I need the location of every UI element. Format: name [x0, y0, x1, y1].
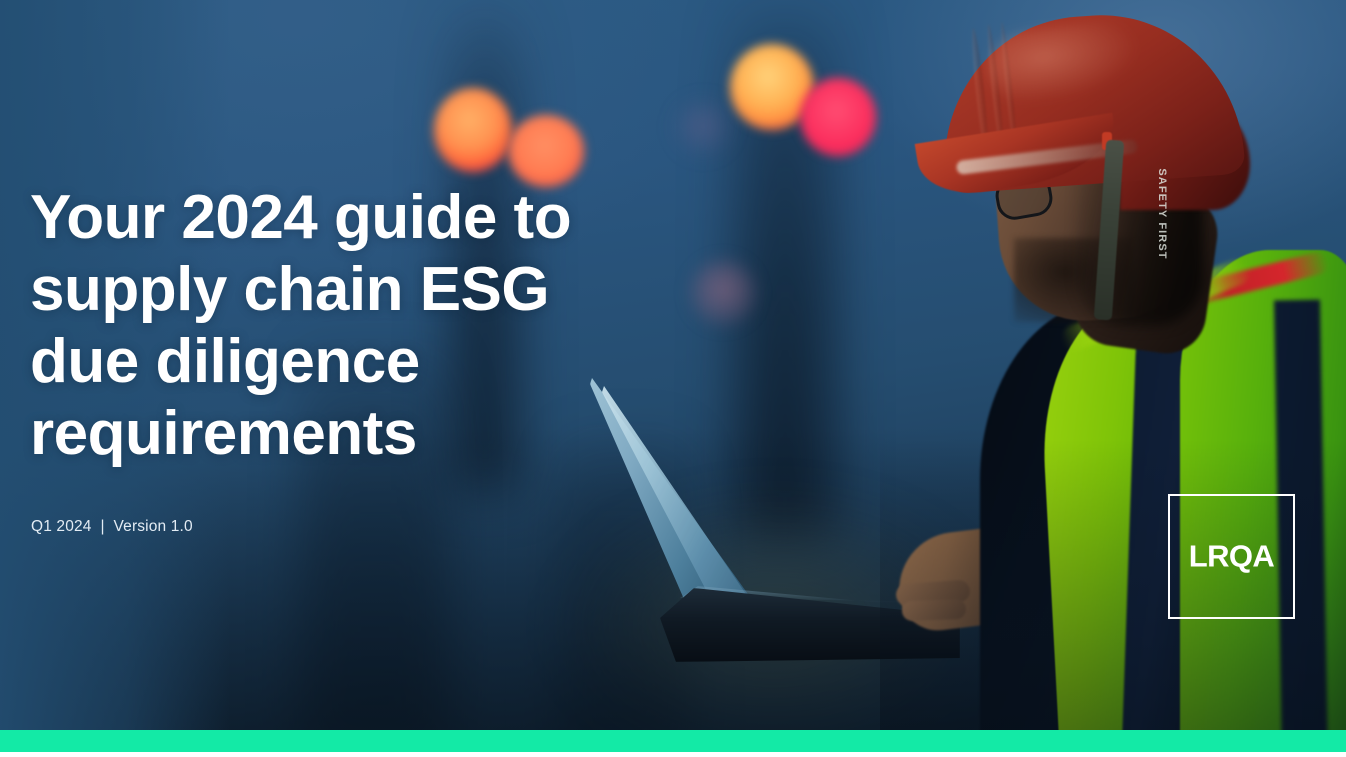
cover-page: SAFETY FIRST Your 2024 guide to supply c…	[0, 0, 1346, 757]
title-line-2: supply chain ESG	[30, 255, 549, 324]
chin-strap-label: SAFETY FIRST	[1152, 139, 1168, 289]
title-line-3: due diligence	[30, 327, 420, 396]
worker-figure: SAFETY FIRST	[880, 0, 1346, 757]
version-label: Version 1.0	[114, 518, 193, 535]
finger	[902, 599, 967, 621]
quarter-label: Q1 2024	[31, 518, 92, 535]
footer-accent-bar	[0, 730, 1346, 752]
lrqa-logo: LRQA	[1168, 494, 1295, 619]
footer-white-strip	[0, 752, 1346, 757]
page-title: Your 2024 guide to supply chain ESG due …	[30, 182, 670, 470]
lrqa-wordmark: LRQA	[1170, 538, 1293, 574]
bokeh-light-orange	[434, 88, 512, 172]
bokeh-light-purple	[672, 100, 734, 158]
title-line-1: Your 2024 guide to	[30, 183, 571, 252]
bokeh-light-purple	[690, 260, 756, 326]
bokeh-light-pink	[800, 78, 876, 156]
document-meta: Q1 2024 | Version 1.0	[31, 518, 193, 536]
title-line-4: requirements	[30, 399, 417, 468]
meta-separator: |	[100, 518, 104, 535]
bokeh-light-orange	[508, 115, 584, 187]
